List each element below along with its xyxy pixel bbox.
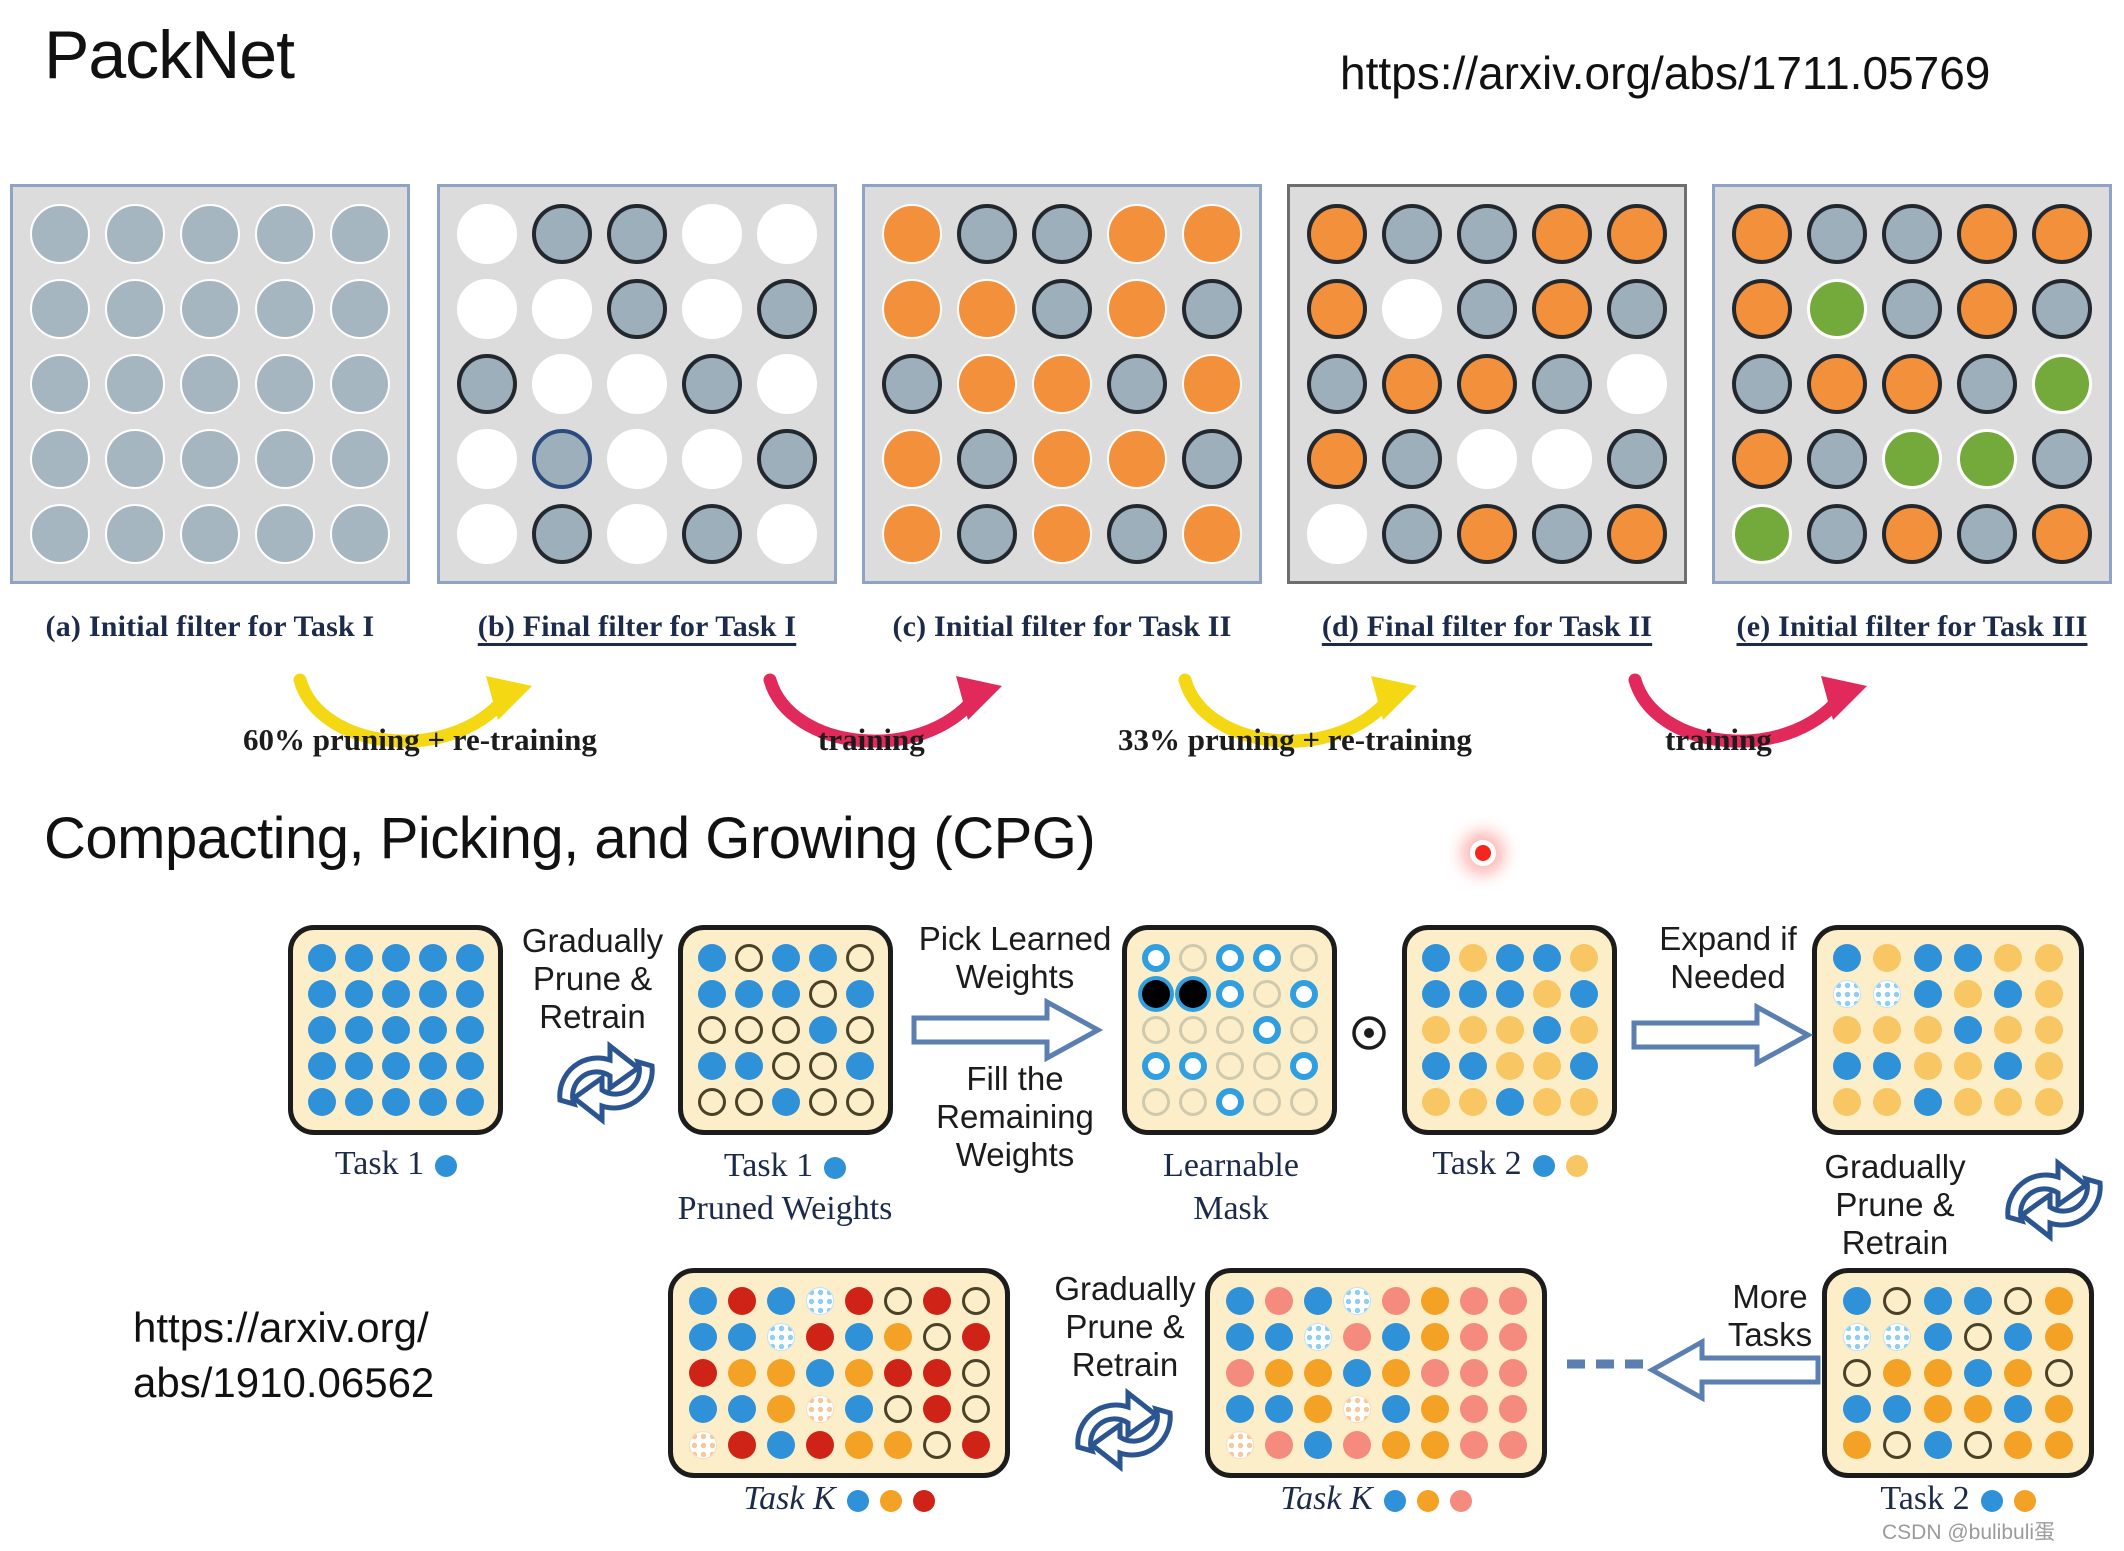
task2-cell-2-5 (1570, 980, 1598, 1008)
task2-bottom-cell-2-4 (1964, 1323, 1992, 1351)
filter-cell-b-4-2 (532, 429, 592, 489)
filter-cell-d-1-2 (1382, 204, 1442, 264)
task2-bottom-cell-1-1 (1843, 1287, 1871, 1315)
legend-dot-blue-3 (1533, 1155, 1555, 1177)
taskK-left-cell-1-2 (728, 1287, 756, 1315)
grid-card-task2-expanded (1812, 925, 2084, 1135)
label-task2: Task 2 (1382, 1145, 1638, 1183)
filter-panel-e (1712, 184, 2112, 584)
filter-cell-c-3-2 (957, 354, 1017, 414)
taskK-mid-cell-5-3 (1304, 1431, 1332, 1459)
filter-cell-e-4-5 (2032, 429, 2092, 489)
taskK-left-cell-3-3 (767, 1359, 795, 1387)
grid-card-task1-pruned (678, 925, 893, 1135)
packnet-arxiv-url: https://arxiv.org/abs/1711.05769 (1340, 46, 1990, 100)
task1-cell-2-3 (382, 980, 410, 1008)
filter-cell-e-3-4 (1957, 354, 2017, 414)
filter-cell-b-3-3 (607, 354, 667, 414)
task2-bottom-cell-5-4 (1964, 1431, 1992, 1459)
filter-cell-e-3-3 (1882, 354, 1942, 414)
taskK-mid-cell-2-7 (1460, 1323, 1488, 1351)
task2-bottom-cell-5-1 (1843, 1431, 1871, 1459)
task2-expanded-cell-3-6 (2035, 1016, 2063, 1044)
task2-bottom-cell-1-3 (1924, 1287, 1952, 1315)
task1-pruned-cell-1-2 (735, 944, 763, 972)
task2-bottom-cell-3-5 (2004, 1359, 2032, 1387)
filter-cell-d-3-3 (1457, 354, 1517, 414)
taskK-left-cell-2-7 (923, 1323, 951, 1351)
learnable-mask-cell-1-1 (1142, 944, 1170, 972)
filter-cell-b-3-1 (457, 354, 517, 414)
filter-cell-e-1-4 (1957, 204, 2017, 264)
learnable-mask-cell-4-4 (1253, 1052, 1281, 1080)
step-gradually-prune-retrain-2: GraduallyPrune &Retrain (1805, 1148, 1985, 1262)
task2-cell-4-1 (1422, 1052, 1450, 1080)
arrow-right-expand-icon (1632, 1005, 1822, 1065)
taskK-mid-cell-5-5 (1382, 1431, 1410, 1459)
filter-cell-b-2-5 (757, 279, 817, 339)
legend-dot-blue (435, 1155, 457, 1177)
task1-pruned-cell-2-2 (735, 980, 763, 1008)
task2-cell-5-4 (1533, 1088, 1561, 1116)
task1-pruned-cell-3-2 (735, 1016, 763, 1044)
caption-panel-e: (e) Initial filter for Task III (1697, 610, 2124, 644)
grid-card-learnable-mask (1122, 925, 1337, 1135)
task2-bottom-cell-5-2 (1883, 1431, 1911, 1459)
filter-cell-c-3-1 (882, 354, 942, 414)
filter-cell-c-5-2 (957, 504, 1017, 564)
task2-bottom-cell-3-6 (2045, 1359, 2073, 1387)
learnable-mask-cell-1-5 (1290, 944, 1318, 972)
taskK-left-cell-3-1 (689, 1359, 717, 1387)
taskK-mid-cell-4-8 (1499, 1395, 1527, 1423)
filter-cell-e-4-2 (1807, 429, 1867, 489)
task2-expanded-cell-4-2 (1873, 1052, 1901, 1080)
task2-cell-5-3 (1496, 1088, 1524, 1116)
taskK-left-cell-4-4 (806, 1395, 834, 1423)
filter-cell-c-1-1 (882, 204, 942, 264)
filter-cell-d-4-5 (1607, 429, 1667, 489)
filter-cell-d-1-1 (1307, 204, 1367, 264)
task1-cell-5-1 (308, 1088, 336, 1116)
taskK-mid-cell-3-2 (1265, 1359, 1293, 1387)
legend-dot-red (913, 1490, 935, 1512)
filter-cell-a-5-4 (255, 504, 315, 564)
legend-dot-orange-3 (2014, 1490, 2036, 1512)
filter-cell-c-4-4 (1107, 429, 1167, 489)
task1-pruned-cell-5-4 (809, 1088, 837, 1116)
task1-pruned-cell-4-5 (846, 1052, 874, 1080)
filter-cell-e-2-1 (1732, 279, 1792, 339)
taskK-left-cell-5-2 (728, 1431, 756, 1459)
filter-cell-b-4-3 (607, 429, 667, 489)
task2-expanded-cell-2-5 (1994, 980, 2022, 1008)
filter-cell-c-4-2 (957, 429, 1017, 489)
filter-cell-c-1-3 (1032, 204, 1092, 264)
task1-cell-5-3 (382, 1088, 410, 1116)
cpg-title: Compacting, Picking, and Growing (CPG) (44, 805, 1095, 872)
filter-cell-a-2-4 (255, 279, 315, 339)
grid-card-taskK-mid (1205, 1268, 1547, 1478)
task2-bottom-cell-4-5 (2004, 1395, 2032, 1423)
filter-cell-b-3-5 (757, 354, 817, 414)
filter-cell-a-3-2 (105, 354, 165, 414)
taskK-left-cell-4-3 (767, 1395, 795, 1423)
taskK-left-cell-1-6 (884, 1287, 912, 1315)
filter-cell-d-2-3 (1457, 279, 1517, 339)
task2-bottom-cell-2-6 (2045, 1323, 2073, 1351)
taskK-mid-cell-4-6 (1421, 1395, 1449, 1423)
task2-bottom-cell-4-1 (1843, 1395, 1871, 1423)
taskK-mid-cell-5-4 (1343, 1431, 1371, 1459)
task2-bottom-cell-4-2 (1883, 1395, 1911, 1423)
taskK-left-cell-5-8 (962, 1431, 990, 1459)
task2-expanded-cell-2-4 (1954, 980, 1982, 1008)
filter-cell-e-2-4 (1957, 279, 2017, 339)
taskK-left-cell-4-7 (923, 1395, 951, 1423)
taskK-left-cell-1-7 (923, 1287, 951, 1315)
filter-cell-c-2-3 (1032, 279, 1092, 339)
step-pick-learned-weights: Pick LearnedWeights (900, 920, 1130, 996)
task2-bottom-cell-3-1 (1843, 1359, 1871, 1387)
filter-cell-a-4-3 (180, 429, 240, 489)
task2-expanded-cell-4-6 (2035, 1052, 2063, 1080)
filter-cell-a-5-5 (330, 504, 390, 564)
taskK-mid-cell-5-1 (1226, 1431, 1254, 1459)
learnable-mask-cell-2-1 (1142, 980, 1170, 1008)
filter-cell-e-4-1 (1732, 429, 1792, 489)
elementwise-multiply-icon (1346, 1010, 1392, 1056)
filter-cell-a-3-3 (180, 354, 240, 414)
learnable-mask-cell-1-4 (1253, 944, 1281, 972)
task2-bottom-cell-4-6 (2045, 1395, 2073, 1423)
task2-expanded-cell-1-2 (1873, 944, 1901, 972)
filter-cell-c-5-3 (1032, 504, 1092, 564)
task1-pruned-cell-2-3 (772, 980, 800, 1008)
filter-cell-a-3-4 (255, 354, 315, 414)
task2-cell-5-1 (1422, 1088, 1450, 1116)
filter-cell-a-2-1 (30, 279, 90, 339)
task2-cell-5-5 (1570, 1088, 1598, 1116)
filter-cell-a-2-3 (180, 279, 240, 339)
filter-cell-d-3-2 (1382, 354, 1442, 414)
task1-cell-5-2 (345, 1088, 373, 1116)
task2-bottom-cell-1-4 (1964, 1287, 1992, 1315)
task1-cell-3-2 (345, 1016, 373, 1044)
filter-cell-c-1-4 (1107, 204, 1167, 264)
taskK-mid-cell-1-5 (1382, 1287, 1410, 1315)
task1-pruned-cell-2-1 (698, 980, 726, 1008)
filter-cell-d-1-5 (1607, 204, 1667, 264)
task2-cell-3-1 (1422, 1016, 1450, 1044)
taskK-mid-cell-5-6 (1421, 1431, 1449, 1459)
watermark: CSDN @bulibuli蛋 (1882, 1516, 2055, 1546)
task1-cell-1-3 (382, 944, 410, 972)
filter-cell-c-1-2 (957, 204, 1017, 264)
learnable-mask-cell-3-3 (1216, 1016, 1244, 1044)
legend-dot-salmon (1450, 1490, 1472, 1512)
taskK-mid-cell-5-8 (1499, 1431, 1527, 1459)
task1-pruned-cell-3-3 (772, 1016, 800, 1044)
filter-cell-c-1-5 (1182, 204, 1242, 264)
filter-cell-e-5-3 (1882, 504, 1942, 564)
task2-expanded-cell-4-3 (1914, 1052, 1942, 1080)
task2-expanded-cell-1-3 (1914, 944, 1942, 972)
task1-pruned-cell-5-3 (772, 1088, 800, 1116)
taskK-left-cell-5-4 (806, 1431, 834, 1459)
task2-bottom-cell-2-2 (1883, 1323, 1911, 1351)
taskK-left-cell-1-4 (806, 1287, 834, 1315)
taskK-mid-cell-4-3 (1304, 1395, 1332, 1423)
filter-cell-a-5-2 (105, 504, 165, 564)
caption-panel-c: (c) Initial filter for Task II (847, 610, 1277, 644)
taskK-left-cell-2-5 (845, 1323, 873, 1351)
taskK-left-cell-5-1 (689, 1431, 717, 1459)
task1-cell-4-5 (456, 1052, 484, 1080)
cpg-url-line1: https://arxiv.org/ (133, 1304, 429, 1351)
filter-cell-e-4-4 (1957, 429, 2017, 489)
legend-dot-orange-2 (1417, 1490, 1439, 1512)
filter-cell-e-1-2 (1807, 204, 1867, 264)
task2-cell-2-1 (1422, 980, 1450, 1008)
task2-expanded-cell-5-6 (2035, 1088, 2063, 1116)
red-laser-dot-icon (1470, 840, 1496, 866)
task1-pruned-cell-2-4 (809, 980, 837, 1008)
filter-cell-b-1-3 (607, 204, 667, 264)
filter-cell-a-5-3 (180, 504, 240, 564)
task1-cell-1-5 (456, 944, 484, 972)
filter-cell-d-5-3 (1457, 504, 1517, 564)
task2-bottom-cell-1-6 (2045, 1287, 2073, 1315)
filter-cell-e-5-5 (2032, 504, 2092, 564)
recycle-arrows-icon-1 (552, 1038, 662, 1123)
taskK-mid-cell-1-6 (1421, 1287, 1449, 1315)
filter-cell-d-5-5 (1607, 504, 1667, 564)
filter-cell-a-4-4 (255, 429, 315, 489)
step-fill-remaining-weights: Fill theRemainingWeights (900, 1060, 1130, 1174)
taskK-left-cell-1-8 (962, 1287, 990, 1315)
task2-expanded-cell-1-4 (1954, 944, 1982, 972)
filter-cell-d-3-1 (1307, 354, 1367, 414)
label-task1-pruned: Task 1 Pruned Weights (650, 1145, 920, 1230)
learnable-mask-cell-5-5 (1290, 1088, 1318, 1116)
taskK-left-cell-4-2 (728, 1395, 756, 1423)
task1-cell-2-4 (419, 980, 447, 1008)
taskK-left-cell-4-6 (884, 1395, 912, 1423)
task2-expanded-cell-5-4 (1954, 1088, 1982, 1116)
learnable-mask-cell-2-4 (1253, 980, 1281, 1008)
filter-cell-e-2-3 (1882, 279, 1942, 339)
taskK-mid-cell-4-7 (1460, 1395, 1488, 1423)
learnable-mask-cell-3-4 (1253, 1016, 1281, 1044)
task1-pruned-cell-4-4 (809, 1052, 837, 1080)
filter-cell-d-2-1 (1307, 279, 1367, 339)
task2-bottom-cell-2-1 (1843, 1323, 1871, 1351)
task2-cell-2-2 (1459, 980, 1487, 1008)
taskK-left-cell-1-1 (689, 1287, 717, 1315)
task1-cell-4-3 (382, 1052, 410, 1080)
legend-dot-blue-2 (824, 1157, 846, 1179)
filter-cell-d-4-2 (1382, 429, 1442, 489)
filter-cell-a-1-4 (255, 204, 315, 264)
task1-cell-4-2 (345, 1052, 373, 1080)
filter-cell-a-2-5 (330, 279, 390, 339)
taskK-left-cell-2-8 (962, 1323, 990, 1351)
taskK-left-cell-3-6 (884, 1359, 912, 1387)
filter-cell-c-3-4 (1107, 354, 1167, 414)
filter-cell-b-5-1 (457, 504, 517, 564)
filter-cell-d-2-2 (1382, 279, 1442, 339)
filter-cell-e-3-2 (1807, 354, 1867, 414)
learnable-mask-cell-2-5 (1290, 980, 1318, 1008)
caption-panel-d: (d) Final filter for Task II (1272, 610, 1702, 644)
taskK-mid-cell-1-8 (1499, 1287, 1527, 1315)
task2-expanded-cell-1-1 (1833, 944, 1861, 972)
task1-cell-4-4 (419, 1052, 447, 1080)
task1-pruned-cell-3-1 (698, 1016, 726, 1044)
legend-dot-yellow (1566, 1155, 1588, 1177)
filter-cell-a-3-1 (30, 354, 90, 414)
filter-panel-b (437, 184, 837, 584)
task2-bottom-cell-5-3 (1924, 1431, 1952, 1459)
task2-expanded-cell-3-3 (1914, 1016, 1942, 1044)
taskK-mid-cell-3-8 (1499, 1359, 1527, 1387)
task1-pruned-cell-5-2 (735, 1088, 763, 1116)
task2-bottom-cell-1-5 (2004, 1287, 2032, 1315)
task2-cell-3-3 (1496, 1016, 1524, 1044)
taskK-mid-cell-2-6 (1421, 1323, 1449, 1351)
taskK-left-cell-4-1 (689, 1395, 717, 1423)
filter-cell-d-4-1 (1307, 429, 1367, 489)
task2-expanded-cell-1-6 (2035, 944, 2063, 972)
filter-cell-d-4-3 (1457, 429, 1517, 489)
filter-cell-a-1-3 (180, 204, 240, 264)
learnable-mask-cell-4-3 (1216, 1052, 1244, 1080)
task2-bottom-cell-4-4 (1964, 1395, 1992, 1423)
taskK-left-cell-2-4 (806, 1323, 834, 1351)
filter-cell-a-5-1 (30, 504, 90, 564)
taskK-mid-cell-1-7 (1460, 1287, 1488, 1315)
dashed-connector (1565, 1353, 1655, 1375)
legend-dot-blue-4 (847, 1490, 869, 1512)
arrow-label-training-1: training (818, 722, 925, 758)
task2-cell-1-5 (1570, 944, 1598, 972)
task2-cell-1-1 (1422, 944, 1450, 972)
filter-cell-b-1-2 (532, 204, 592, 264)
task1-pruned-cell-4-1 (698, 1052, 726, 1080)
task2-bottom-cell-1-2 (1883, 1287, 1911, 1315)
filter-cell-d-3-4 (1532, 354, 1592, 414)
taskK-mid-cell-2-4 (1343, 1323, 1371, 1351)
grid-card-task2-bottom (1822, 1268, 2094, 1478)
task1-cell-3-5 (456, 1016, 484, 1044)
task2-expanded-cell-5-3 (1914, 1088, 1942, 1116)
filter-cell-c-3-5 (1182, 354, 1242, 414)
taskK-left-cell-2-6 (884, 1323, 912, 1351)
task1-cell-5-5 (456, 1088, 484, 1116)
taskK-left-cell-2-3 (767, 1323, 795, 1351)
task2-cell-3-4 (1533, 1016, 1561, 1044)
task1-pruned-cell-1-5 (846, 944, 874, 972)
task1-cell-2-2 (345, 980, 373, 1008)
filter-cell-c-4-3 (1032, 429, 1092, 489)
grid-card-task1 (288, 925, 503, 1135)
cpg-arxiv-url: https://arxiv.org/ abs/1910.06562 (133, 1300, 434, 1411)
task1-cell-1-2 (345, 944, 373, 972)
taskK-mid-cell-3-7 (1460, 1359, 1488, 1387)
taskK-mid-cell-3-1 (1226, 1359, 1254, 1387)
filter-cell-a-4-1 (30, 429, 90, 489)
filter-cell-c-2-5 (1182, 279, 1242, 339)
task2-expanded-cell-1-5 (1994, 944, 2022, 972)
task1-pruned-cell-3-5 (846, 1016, 874, 1044)
task1-pruned-cell-1-4 (809, 944, 837, 972)
task2-bottom-cell-3-2 (1883, 1359, 1911, 1387)
filter-cell-c-4-5 (1182, 429, 1242, 489)
taskK-mid-cell-2-8 (1499, 1323, 1527, 1351)
taskK-mid-cell-1-4 (1343, 1287, 1371, 1315)
taskK-mid-cell-3-6 (1421, 1359, 1449, 1387)
filter-cell-a-2-2 (105, 279, 165, 339)
learnable-mask-cell-5-2 (1179, 1088, 1207, 1116)
taskK-mid-cell-5-2 (1265, 1431, 1293, 1459)
taskK-mid-cell-3-3 (1304, 1359, 1332, 1387)
learnable-mask-cell-1-3 (1216, 944, 1244, 972)
task2-cell-3-2 (1459, 1016, 1487, 1044)
filter-cell-a-4-2 (105, 429, 165, 489)
filter-cell-d-2-5 (1607, 279, 1667, 339)
arrow-label-prune-2: 33% pruning + re-training (1118, 722, 1472, 758)
task2-expanded-cell-4-1 (1833, 1052, 1861, 1080)
learnable-mask-cell-5-1 (1142, 1088, 1170, 1116)
step-gradually-prune-retrain-3: GraduallyPrune &Retrain (1035, 1270, 1215, 1384)
legend-dot-blue-6 (1981, 1490, 2003, 1512)
filter-cell-b-3-2 (532, 354, 592, 414)
filter-cell-b-5-3 (607, 504, 667, 564)
filter-cell-b-5-4 (682, 504, 742, 564)
task2-cell-2-4 (1533, 980, 1561, 1008)
taskK-mid-cell-4-2 (1265, 1395, 1293, 1423)
task2-cell-4-2 (1459, 1052, 1487, 1080)
filter-cell-e-1-5 (2032, 204, 2092, 264)
learnable-mask-cell-2-3 (1216, 980, 1244, 1008)
packnet-title: PackNet (44, 16, 294, 94)
task2-bottom-cell-5-6 (2045, 1431, 2073, 1459)
filter-cell-e-5-1 (1732, 504, 1792, 564)
filter-cell-a-3-5 (330, 354, 390, 414)
step-gradually-prune-retrain-1: GraduallyPrune &Retrain (505, 922, 680, 1036)
legend-dot-blue-5 (1384, 1490, 1406, 1512)
filter-cell-b-4-1 (457, 429, 517, 489)
taskK-left-cell-5-3 (767, 1431, 795, 1459)
grid-card-task2 (1402, 925, 1617, 1135)
task2-expanded-cell-5-2 (1873, 1088, 1901, 1116)
learnable-mask-cell-3-1 (1142, 1016, 1170, 1044)
arrow-label-prune-1: 60% pruning + re-training (243, 722, 597, 758)
filter-cell-b-2-2 (532, 279, 592, 339)
filter-cell-d-5-1 (1307, 504, 1367, 564)
taskK-left-cell-3-8 (962, 1359, 990, 1387)
task1-pruned-cell-1-1 (698, 944, 726, 972)
filter-cell-d-3-5 (1607, 354, 1667, 414)
filter-cell-a-1-1 (30, 204, 90, 264)
task2-cell-1-3 (1496, 944, 1524, 972)
filter-cell-d-5-2 (1382, 504, 1442, 564)
taskK-left-cell-2-1 (689, 1323, 717, 1351)
filter-panel-a (10, 184, 410, 584)
caption-panel-b: (b) Final filter for Task I (422, 610, 852, 644)
taskK-mid-cell-2-3 (1304, 1323, 1332, 1351)
